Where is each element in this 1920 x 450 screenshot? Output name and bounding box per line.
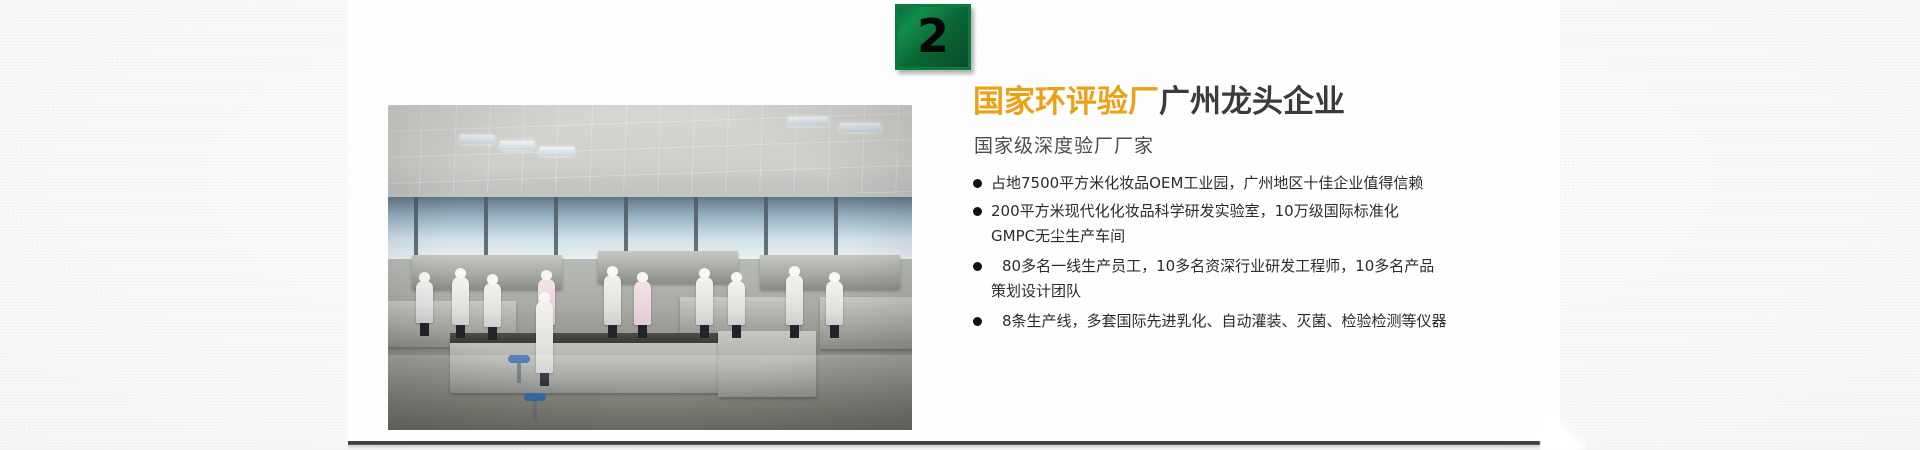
photo-scene bbox=[388, 105, 912, 430]
page-title-plain: 广州龙头企业 bbox=[1159, 84, 1345, 120]
list-item-label: 占地7500平方米化妆品OEM工业园，广州地区十佳企业值得信赖 bbox=[991, 172, 1423, 195]
list-item: 80多名一线生产员工，10多名资深行业研发工程师，10多名产品 bbox=[973, 255, 1533, 278]
bullet-spacer bbox=[973, 287, 982, 296]
bullet-dot-icon bbox=[973, 262, 982, 271]
list-item: 200平方米现代化化妆品科学研发实验室，10万级国际标准化 bbox=[973, 200, 1533, 223]
page-title-accent: 国家环评验厂 bbox=[973, 84, 1159, 120]
bullet-dot-icon bbox=[973, 317, 982, 326]
list-item-label: 200平方米现代化化妆品科学研发实验室，10万级国际标准化 bbox=[991, 200, 1399, 223]
page-curl-highlight bbox=[1540, 398, 1586, 450]
photo-vignette bbox=[388, 105, 912, 430]
bullet-dot-icon bbox=[973, 207, 982, 216]
bullet-spacer bbox=[973, 232, 982, 241]
list-item-label: 策划设计团队 bbox=[991, 280, 1081, 303]
list-item-label: 80多名一线生产员工，10多名资深行业研发工程师，10多名产品 bbox=[1002, 255, 1434, 278]
list-item-label: 8条生产线，多套国际先进乳化、自动灌装、灭菌、检验检测等仪器 bbox=[1002, 310, 1447, 333]
list-item: 8条生产线，多套国际先进乳化、自动灌装、灭菌、检验检测等仪器 bbox=[973, 310, 1533, 333]
list-item-continuation: 策划设计团队 bbox=[973, 280, 1533, 303]
bullet-dot-icon bbox=[973, 179, 982, 188]
list-item-continuation: GMPC无尘生产车间 bbox=[973, 225, 1533, 248]
bottom-divider-shadow bbox=[348, 445, 1560, 450]
list-item: 占地7500平方米化妆品OEM工业园，广州地区十佳企业值得信赖 bbox=[973, 172, 1533, 195]
step-badge: 2 bbox=[895, 4, 971, 70]
page-subtitle: 国家级深度验厂厂家 bbox=[974, 131, 1533, 158]
feature-list: 占地7500平方米化妆品OEM工业园，广州地区十佳企业值得信赖 200平方米现代… bbox=[973, 172, 1533, 333]
page-title: 国家环评验厂广州龙头企业 bbox=[973, 82, 1533, 122]
laboratory-photo bbox=[388, 105, 912, 430]
step-badge-number: 2 bbox=[917, 13, 949, 59]
list-item-label: GMPC无尘生产车间 bbox=[991, 225, 1125, 248]
text-column: 国家环评验厂广州龙头企业 国家级深度验厂厂家 占地7500平方米化妆品OEM工业… bbox=[973, 82, 1533, 338]
